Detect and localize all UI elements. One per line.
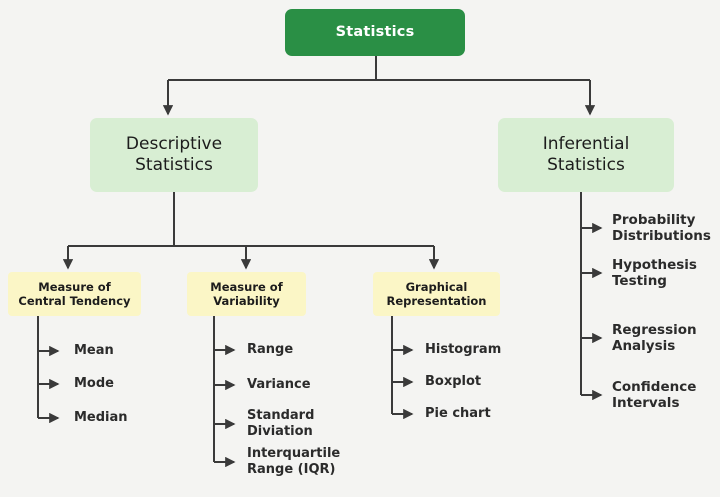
leaf-histogram[interactable]: Histogram	[425, 342, 501, 358]
leaf-regression-analysis[interactable]: Regression Analysis	[612, 322, 697, 354]
leaf-boxplot[interactable]: Boxplot	[425, 374, 481, 390]
leaf-hypothesis-testing[interactable]: Hypothesis Testing	[612, 257, 697, 289]
node-statistics[interactable]: Statistics	[285, 9, 465, 56]
node-measure-of-central-tendency[interactable]: Measure of Central Tendency	[8, 272, 141, 316]
node-descriptive-statistics[interactable]: Descriptive Statistics	[90, 118, 258, 192]
leaf-mean[interactable]: Mean	[74, 343, 114, 359]
leaf-probability-distributions[interactable]: Probability Distributions	[612, 212, 711, 244]
leaf-range[interactable]: Range	[247, 342, 293, 358]
leaf-median[interactable]: Median	[74, 410, 128, 426]
leaf-interquartile-range[interactable]: Interquartile Range (IQR)	[247, 446, 340, 477]
node-graphical-representation[interactable]: Graphical Representation	[373, 272, 500, 316]
node-measure-of-variability[interactable]: Measure of Variability	[187, 272, 306, 316]
leaf-mode[interactable]: Mode	[74, 376, 114, 392]
leaf-confidence-intervals[interactable]: Confidence Intervals	[612, 379, 696, 411]
leaf-pie-chart[interactable]: Pie chart	[425, 406, 491, 422]
leaf-variance[interactable]: Variance	[247, 377, 311, 393]
statistics-flowchart: Statistics Descriptive Statistics Infere…	[0, 0, 720, 497]
node-inferential-statistics[interactable]: Inferential Statistics	[498, 118, 674, 192]
leaf-standard-deviation[interactable]: Standard Diviation	[247, 408, 314, 439]
